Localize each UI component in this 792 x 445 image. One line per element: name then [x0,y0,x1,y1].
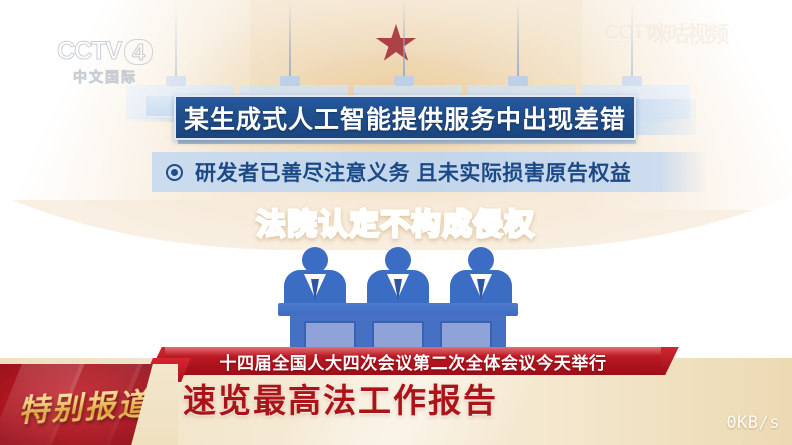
banner-cord [289,0,291,78]
headline-band-left-accent [146,96,176,116]
detail-band-text: 研发者已善尽注意义务 且未实际损害原告权益 [195,157,631,187]
program-badge: 特别报道 [0,364,178,445]
main-headline: 速览最高法工作报告 [183,375,498,421]
broadcast-screen: CCTV 4 中文国际 CCTV 咪咕视频 中文国际 某生成式人工智能提供服务中… [0,0,792,445]
judge-figure [450,247,512,308]
headline-band-text: 某生成式人工智能提供服务中出现差错 [184,100,626,136]
ticker-glint [165,347,661,356]
banner-cord [517,0,519,78]
judge-figure [284,247,346,308]
banner-cord [403,0,405,78]
verdict-line-text: 法院认定不构成侵权 [256,201,535,243]
main-headline-text: 速览最高法工作报告 [183,374,498,422]
network-speed-indicator: 0KB/s [726,413,780,433]
program-badge-text: 特别报道 [17,379,151,431]
headline-band-shadow [178,140,636,144]
headline-band-right-accent [636,99,696,135]
verdict-line: 法院认定不构成侵权 [0,202,792,242]
bullseye-icon [166,164,183,181]
detail-band: 研发者已善尽注意义务 且未实际损害原告权益 [152,152,662,192]
judge-figure [367,247,429,308]
headline-band: 某生成式人工智能提供服务中出现差错 [174,95,636,140]
detail-band-fade [662,152,708,192]
courtroom-panel-icon [278,245,518,360]
